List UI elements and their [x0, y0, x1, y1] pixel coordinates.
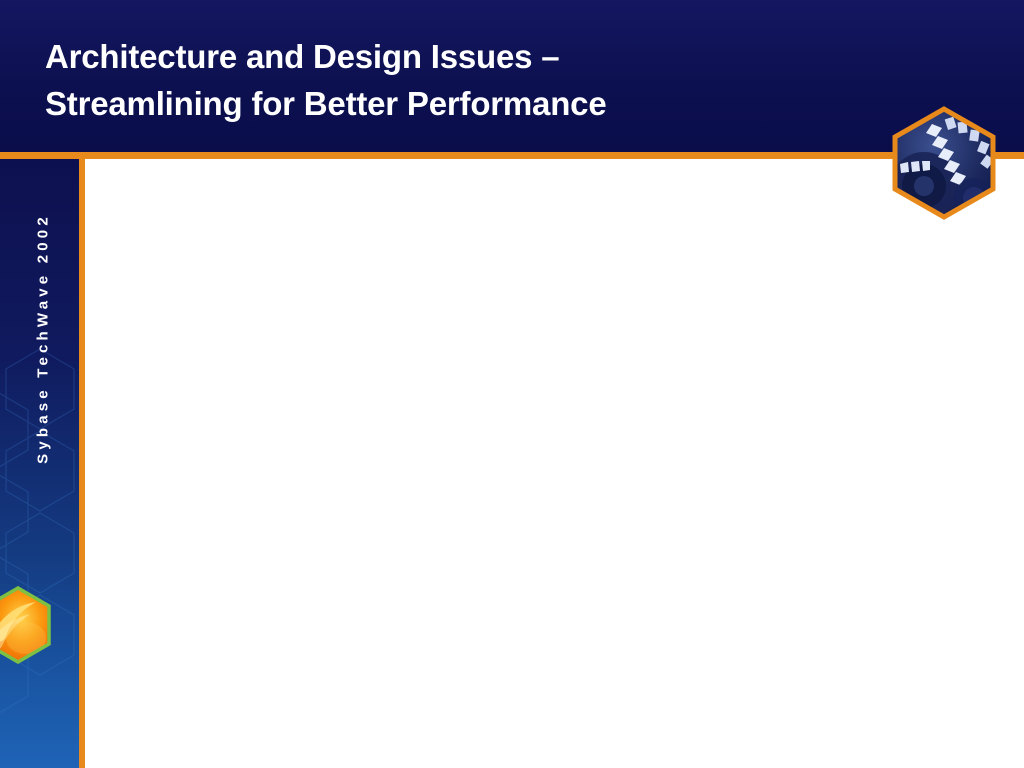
- slide-canvas: Architecture and Design Issues – Streaml…: [0, 0, 1024, 768]
- header-accent-rule: [0, 152, 1024, 159]
- gear-hexagon-icon: [888, 106, 1000, 220]
- sidebar-accent-rule: [79, 159, 85, 768]
- slide-body: [85, 159, 1024, 768]
- page-title: Architecture and Design Issues – Streaml…: [45, 33, 875, 127]
- sphere-hexagon-icon: [0, 586, 52, 664]
- conference-branding-label: Sybase TechWave 2002: [35, 184, 52, 494]
